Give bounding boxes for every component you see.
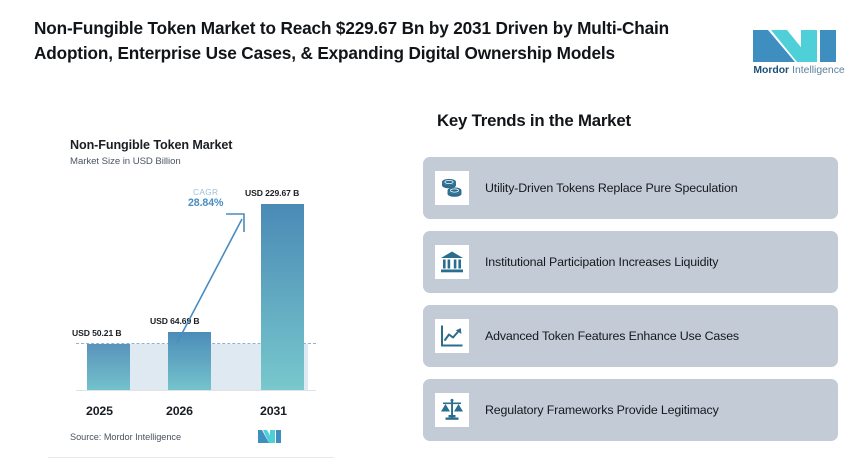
chart-plot-area: USD 50.21 B USD 64.69 B USD 229.67 B CAG… <box>70 180 320 398</box>
chart-subtitle: Market Size in USD Billion <box>70 156 181 167</box>
x-tick-2026: 2026 <box>166 404 193 418</box>
bar-value-label-2025: USD 50.21 B <box>72 328 122 338</box>
balance-scales-icon <box>435 393 469 427</box>
bar-2025 <box>87 344 130 390</box>
logo-word-mordor: Mordor <box>753 66 789 76</box>
trend-label-3: Regulatory Frameworks Provide Legitimacy <box>485 402 719 419</box>
trend-card-utility-driven-tokens[interactable]: Utility-Driven Tokens Replace Pure Specu… <box>423 157 838 219</box>
cagr-value: 28.84% <box>188 197 223 210</box>
press-release-graphic: Non-Fungible Token Market to Reach $229.… <box>0 0 860 468</box>
coins-stack-icon <box>435 171 469 205</box>
key-trends-heading: Key Trends in the Market <box>437 111 631 131</box>
x-tick-2031: 2031 <box>260 404 287 418</box>
trend-label-1: Institutional Participation Increases Li… <box>485 254 718 271</box>
bank-institution-icon <box>435 245 469 279</box>
mordor-logo-wordmark: Mordor Intelligence <box>751 66 847 76</box>
mordor-intelligence-logo: Mordor Intelligence <box>751 22 847 82</box>
trend-card-regulatory-frameworks[interactable]: Regulatory Frameworks Provide Legitimacy <box>423 379 838 441</box>
key-trends-list: Utility-Driven Tokens Replace Pure Specu… <box>423 157 838 441</box>
trend-card-institutional-participation[interactable]: Institutional Participation Increases Li… <box>423 231 838 293</box>
chart-source-text: Source: Mordor Intelligence <box>70 432 181 442</box>
mordor-logo-mark <box>751 22 847 64</box>
trend-card-advanced-token-features[interactable]: Advanced Token Features Enhance Use Case… <box>423 305 838 367</box>
cagr-label: CAGR <box>188 187 223 197</box>
logo-word-intelligence: Intelligence <box>792 66 845 76</box>
cagr-annotation: CAGR 28.84% <box>188 187 223 210</box>
trend-label-2: Advanced Token Features Enhance Use Case… <box>485 328 739 345</box>
page-title: Non-Fungible Token Market to Reach $229.… <box>34 16 714 67</box>
bar-2026 <box>168 332 211 390</box>
chart-panel: Non-Fungible Token Market Market Size in… <box>48 128 334 458</box>
line-chart-growth-icon <box>435 319 469 353</box>
chart-title: Non-Fungible Token Market <box>70 138 232 152</box>
bar-value-label-2031: USD 229.67 B <box>245 188 299 198</box>
mordor-logo-mark-small <box>257 428 283 444</box>
bar-value-label-2026: USD 64.69 B <box>150 316 200 326</box>
chart-x-axis-labels: 2025 2026 2031 <box>70 404 320 422</box>
bar-2031 <box>261 204 304 390</box>
x-tick-2025: 2025 <box>86 404 113 418</box>
trend-label-0: Utility-Driven Tokens Replace Pure Specu… <box>485 180 738 197</box>
